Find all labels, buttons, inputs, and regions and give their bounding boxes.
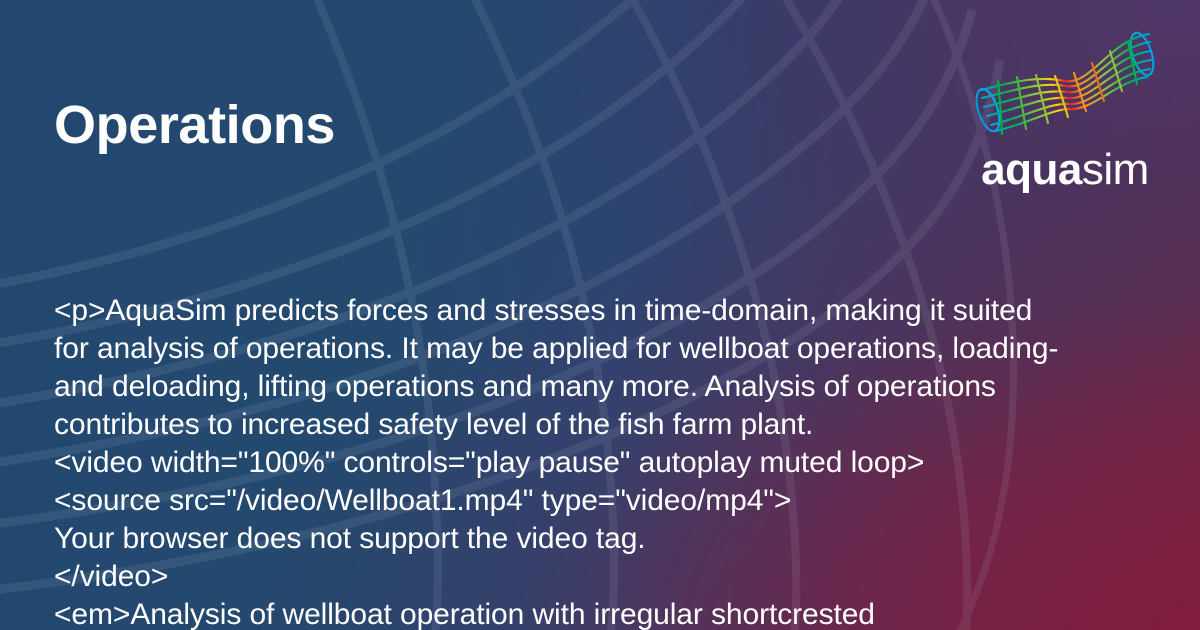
aquasim-logo: aquasim [960, 18, 1170, 192]
body-line: contributes to increased safety level of… [54, 406, 1158, 444]
page-title: Operations [54, 96, 335, 154]
body-line: <source src="/video/Wellboat1.mp4" type=… [54, 482, 1158, 520]
social-preview-card: Operations [0, 0, 1200, 630]
body-line: <video width="100%" controls="play pause… [54, 444, 1158, 482]
body-line: <p>AquaSim predicts forces and stresses … [54, 292, 1158, 330]
body-line: for analysis of operations. It may be ap… [54, 330, 1158, 368]
body-line: <em>Analysis of wellboat operation with … [54, 596, 1158, 630]
body-line: </video> [54, 558, 1158, 596]
wordmark-aqua: aqua [981, 145, 1082, 194]
body-line: Your browser does not support the video … [54, 520, 1158, 558]
aquasim-net-mesh-logo-icon [970, 18, 1160, 146]
body-line: and deloading, lifting operations and ma… [54, 368, 1158, 406]
aquasim-wordmark: aquasim [981, 148, 1149, 192]
body-text-block: <p>AquaSim predicts forces and stresses … [54, 292, 1158, 630]
wordmark-sim: sim [1082, 145, 1149, 194]
